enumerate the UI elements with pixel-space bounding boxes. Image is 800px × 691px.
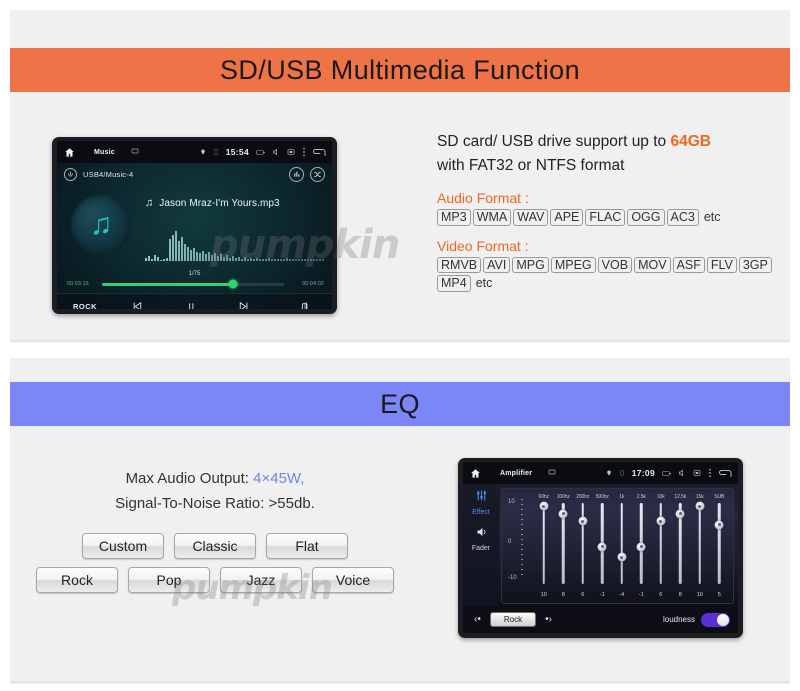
spectrum-bar [166, 258, 168, 261]
spectrum-bar [259, 259, 261, 261]
spectrum-bar [148, 256, 150, 261]
spectrum-bar [214, 253, 216, 261]
equalizer-band-value: -4 [619, 592, 624, 598]
equalizer-band-slider[interactable] [573, 501, 593, 592]
previous-track-icon[interactable] [131, 300, 144, 309]
equalizer-band[interactable]: 60hz10 [534, 493, 554, 599]
duration-time: 00:04:02 [302, 281, 324, 287]
music-note-small-icon: ♫ [145, 197, 153, 209]
home-icon[interactable] [469, 467, 482, 480]
equalizer-band[interactable]: 2.5k-1 [632, 493, 652, 599]
amplifier-side-tabs: Effect Fader [463, 484, 499, 606]
spectrum-bar [232, 256, 234, 261]
eq-preset-button[interactable]: Rock [36, 567, 118, 593]
equalizer-band-frequency: 15k [696, 494, 704, 500]
page-root: SD/USB Multimedia Function Music [0, 0, 800, 691]
back-icon[interactable] [313, 148, 326, 157]
equalizer-band[interactable]: 15k10 [690, 493, 710, 599]
equalizer-band-knob[interactable] [598, 542, 607, 551]
spectrum-bar [184, 244, 186, 261]
format-chip: MP3 [437, 209, 471, 226]
format-chip: RMVB [437, 257, 481, 274]
music-note-icon: ♫ [90, 210, 113, 240]
spectrum-bar [271, 259, 273, 261]
support-line: SD card/ USB drive support up to 64GB [437, 130, 787, 154]
sliders-icon[interactable] [475, 489, 488, 507]
spectrum-bar [274, 259, 276, 261]
next-preset-icon[interactable]: •› [542, 614, 555, 625]
amplifier-screen: Amplifier 17:09 [463, 462, 738, 633]
loudness-label: loudness [663, 615, 695, 624]
spectrum-bar [175, 231, 177, 261]
format-chip: 3GP [739, 257, 772, 274]
location-icon [200, 148, 206, 156]
spectrum-bar [265, 259, 267, 261]
equalizer-band-track [543, 503, 546, 584]
spectrum-bar [253, 259, 255, 261]
spectrum-bar [304, 259, 306, 261]
axis-dotted-guide [521, 499, 523, 579]
format-chip: OGG [627, 209, 664, 226]
section-sdusb-title: SD/USB Multimedia Function [220, 55, 580, 86]
playlist-icon[interactable] [297, 301, 309, 310]
equalizer-band-track [699, 503, 702, 584]
amplifier-clock: 17:09 [632, 468, 655, 478]
sim-icon [213, 148, 219, 156]
support-capacity: 64GB [670, 133, 711, 150]
spectrum-bar [301, 259, 303, 261]
equalizer-band-knob[interactable] [676, 509, 685, 518]
current-preset-button[interactable]: Rock [490, 612, 536, 627]
amplifier-status-bar: Amplifier 17:09 [463, 462, 738, 484]
format-chip: AC3 [667, 209, 699, 226]
amplifier-bottom-bar: ‹• Rock •› loudness [463, 606, 738, 633]
format-chip: VOB [598, 257, 632, 274]
sd-card-icon [131, 147, 139, 157]
spectrum-bar [199, 253, 201, 261]
spectrum-bar [196, 252, 198, 261]
loudness-toggle-knob [717, 614, 729, 626]
media-player-device: Music 15:54 [52, 137, 337, 314]
media-player-status-bar: Music 15:54 [57, 141, 332, 163]
equalizer-panel: 10 0 -10 60hz10100hz8200hz6500hz-11k-42.… [501, 488, 734, 604]
equalizer-band-value: 8 [562, 592, 565, 598]
spectrum-bar [310, 259, 312, 261]
spectrum-bar [289, 259, 291, 261]
snr-line: Signal-To-Noise Ratio: >55db. [70, 491, 360, 516]
equalizer-band[interactable]: SUB5 [710, 493, 730, 599]
format-chip: APE [550, 209, 583, 226]
eq-info-column: Max Audio Output: 4×45W, Signal-To-Noise… [70, 466, 360, 593]
filesystem-line: with FAT32 or NTFS format [437, 154, 787, 178]
spectrum-bar [277, 259, 279, 261]
eq-preset-row-1: CustomClassicFlat [82, 533, 348, 559]
spectrum-bar [211, 255, 213, 261]
equalizer-band[interactable]: 500hz-1 [593, 493, 613, 599]
next-track-icon[interactable] [237, 300, 250, 309]
spectrum-bar [235, 258, 237, 261]
spectrum-bar [217, 256, 219, 261]
axis-label-max: 10 [508, 499, 515, 505]
battery-icon [662, 470, 671, 477]
spectrum-bar [319, 259, 321, 261]
spectrum-bar [193, 248, 195, 261]
equalizer-band-knob[interactable] [715, 520, 724, 529]
format-chip: WMA [473, 209, 512, 226]
equalizer-band-frequency: 500hz [596, 494, 609, 500]
equalizer-band-frequency: 10k [657, 494, 665, 500]
equalizer-band-value: -1 [600, 592, 605, 598]
spectrum-bar [172, 235, 174, 261]
amplifier-app-name: Amplifier [500, 470, 532, 477]
media-player-progress-area: 1/75 00:03:16 00:04:02 [57, 273, 332, 293]
amplifier-main: Effect Fader 10 0 -10 60hz10100hz8200hz6… [463, 484, 738, 606]
max-audio-output-line: Max Audio Output: 4×45W, [70, 466, 360, 491]
location-icon [606, 469, 612, 477]
eq-preset-button[interactable]: Voice [312, 567, 394, 593]
format-chip: MPG [512, 257, 548, 274]
spectrum-bar [307, 259, 309, 261]
spectrum-bar [262, 259, 264, 261]
back-icon[interactable] [719, 469, 732, 478]
pause-icon[interactable] [186, 300, 197, 309]
section-eq-header: EQ [10, 382, 790, 426]
speaker-icon[interactable] [475, 525, 488, 543]
equalizer-band-value: 10 [541, 592, 547, 598]
spectrum-bar [292, 259, 294, 261]
equalizer-band-knob[interactable] [578, 517, 587, 526]
equalizer-band-track [660, 503, 663, 584]
equalizer-band-track [582, 503, 585, 584]
audio-format-list: MP3WMAWAVAPEFLACOGGAC3etc [437, 209, 787, 226]
equalizer-band-knob[interactable] [617, 553, 626, 562]
equalizer-band-slider[interactable] [612, 501, 632, 592]
current-eq-preset[interactable]: ROCK [73, 302, 97, 309]
spectrum-bar [286, 258, 288, 261]
eq-preset-button[interactable]: Flat [266, 533, 348, 559]
video-format-label: Video Format : [437, 238, 787, 254]
eq-preset-button[interactable]: Pop [128, 567, 210, 593]
eq-preset-button[interactable]: Classic [174, 533, 256, 559]
amplifier-device: Amplifier 17:09 [458, 458, 743, 638]
eq-preset-button[interactable]: Jazz [220, 567, 302, 593]
spectrum-bar [226, 255, 228, 261]
media-player-app-name: Music [94, 149, 115, 156]
equalizer-band-knob[interactable] [656, 517, 665, 526]
equalizer-band-slider[interactable] [651, 501, 671, 592]
progress-bar[interactable] [102, 283, 284, 286]
spectrum-bar [244, 257, 246, 261]
media-player-source-path: USB4/Music-4 [83, 170, 133, 179]
format-etc: etc [476, 277, 493, 290]
equalizer-band-slider[interactable] [534, 501, 554, 592]
spectrum-bar [178, 241, 180, 261]
audio-spectrum-visualizer [145, 219, 330, 261]
equalizer-band-slider[interactable] [554, 501, 574, 592]
sd-card-icon [548, 468, 556, 478]
equalizer-band-knob[interactable] [695, 502, 704, 511]
equalizer-band-slider[interactable] [632, 501, 652, 592]
spectrum-bar [223, 257, 225, 261]
equalizer-band-slider[interactable] [690, 501, 710, 592]
eq-preset-buttons: CustomClassicFlat RockPopJazzVoice [70, 533, 360, 593]
equalizer-band[interactable]: 1k-4 [612, 493, 632, 599]
equalizer-band-value: 8 [679, 592, 682, 598]
spectrum-bar [241, 259, 243, 261]
support-line-prefix: SD card/ USB drive support up to [437, 133, 670, 150]
equalizer-band-value: 5 [718, 592, 721, 598]
spectrum-bar [256, 258, 258, 261]
spectrum-bar [229, 258, 231, 261]
equalizer-band-slider[interactable] [671, 501, 691, 592]
equalizer-band-knob[interactable] [637, 542, 646, 551]
more-icon[interactable] [708, 468, 712, 478]
spectrum-bar [157, 257, 159, 261]
media-player-controls: ROCK [57, 293, 332, 309]
section-divider-2 [10, 681, 790, 684]
equalizer-band-knob[interactable] [539, 502, 548, 511]
more-icon[interactable] [302, 147, 306, 157]
spectrum-bar [283, 259, 285, 261]
spectrum-bar [160, 260, 162, 261]
audio-format-label: Audio Format : [437, 190, 787, 206]
screen-icon[interactable] [693, 469, 701, 477]
spectrum-bar [295, 259, 297, 261]
previous-preset-icon[interactable]: ‹• [471, 614, 484, 625]
spectrum-bar [145, 258, 147, 261]
format-etc: etc [704, 211, 721, 224]
spectrum-bar [163, 259, 165, 261]
equalizer-band-frequency: 12.5k [674, 494, 686, 500]
amplifier-tab-fader[interactable]: Fader [472, 545, 490, 552]
equalizer-band-frequency: 100hz [557, 494, 570, 500]
spectrum-bar [190, 250, 192, 261]
spectrum-bar [169, 239, 171, 261]
equalizer-band-slider[interactable] [710, 501, 730, 592]
section-eq-title: EQ [380, 389, 420, 420]
loudness-toggle[interactable] [701, 613, 730, 627]
volume-icon[interactable] [678, 469, 686, 477]
equalizer-band[interactable]: 200hz6 [573, 493, 593, 599]
media-player-body: ♫ ♫ Jason Mraz-I'm Yours.mp3 [57, 185, 332, 273]
format-chip: MOV [634, 257, 670, 274]
progress-bar-fill [102, 283, 233, 286]
axis-label-mid: 0 [508, 539, 511, 545]
video-format-list: RMVBAVIMPGMPEGVOBMOVASFFLV3GPMP4etc [437, 257, 787, 292]
album-art: ♫ [71, 195, 131, 255]
media-player-clock: 15:54 [226, 147, 249, 157]
format-chip: FLAC [585, 209, 625, 226]
shuffle-icon[interactable] [310, 167, 325, 182]
spectrum-bar [280, 259, 282, 261]
spectrum-bar [250, 258, 252, 261]
equalizer-icon[interactable] [289, 167, 304, 182]
spectrum-bar [238, 257, 240, 261]
spectrum-bar [322, 259, 324, 261]
home-icon[interactable] [63, 146, 76, 159]
media-player-screen: Music 15:54 [57, 141, 332, 309]
spectrum-bar [316, 259, 318, 261]
battery-icon [256, 149, 265, 156]
screen-icon[interactable] [287, 148, 295, 156]
spectrum-bar [313, 259, 315, 261]
spectrum-bar [154, 255, 156, 261]
eq-preset-row-2: RockPopJazzVoice [36, 567, 394, 593]
equalizer-band-frequency: 1k [619, 494, 624, 500]
format-chip: FLV [707, 257, 737, 274]
equalizer-band-frequency: SUB [714, 494, 724, 500]
spectrum-bar [151, 259, 153, 261]
format-chip: ASF [673, 257, 705, 274]
max-audio-output-label: Max Audio Output: [126, 470, 254, 487]
track-index: 1/75 [57, 271, 332, 277]
sdusb-info-text: SD card/ USB drive support up to 64GB wi… [437, 130, 787, 292]
section-sdusb-header: SD/USB Multimedia Function [10, 48, 790, 92]
spectrum-bar [181, 237, 183, 261]
spectrum-bar [205, 254, 207, 261]
track-title: Jason Mraz-I'm Yours.mp3 [159, 198, 279, 209]
spectrum-bar [298, 259, 300, 261]
equalizer-band-value: 6 [659, 592, 662, 598]
equalizer-band-value: 10 [697, 592, 703, 598]
eq-toggle-icon[interactable] [64, 168, 77, 181]
equalizer-band-value: -1 [639, 592, 644, 598]
spectrum-bar [187, 247, 189, 261]
equalizer-band-frequency: 60hz [539, 494, 549, 500]
format-chip: AVI [483, 257, 510, 274]
now-playing-row: ♫ Jason Mraz-I'm Yours.mp3 [145, 197, 280, 209]
format-chip: MPEG [551, 257, 596, 274]
equalizer-band-frequency: 2.5k [637, 494, 646, 500]
progress-bar-handle[interactable] [229, 280, 238, 289]
spectrum-bar [202, 251, 204, 261]
axis-label-min: -10 [508, 575, 517, 581]
eq-preset-button[interactable]: Custom [82, 533, 164, 559]
format-chip: MP4 [437, 275, 471, 292]
equalizer-bands: 60hz10100hz8200hz6500hz-11k-42.5k-110k61… [534, 493, 729, 599]
equalizer-band-slider[interactable] [593, 501, 613, 592]
spectrum-bar [220, 254, 222, 261]
spectrum-bar [208, 252, 210, 261]
spectrum-bar [247, 259, 249, 261]
equalizer-band-track [621, 503, 624, 584]
spectrum-bar [268, 258, 270, 261]
equalizer-band[interactable]: 12.5k8 [671, 493, 691, 599]
sim-icon [619, 469, 625, 477]
amplifier-tab-effect[interactable]: Effect [472, 509, 490, 516]
equalizer-band-track [718, 503, 721, 584]
equalizer-band-value: 6 [581, 592, 584, 598]
media-player-source-row: USB4/Music-4 [57, 163, 332, 185]
equalizer-band[interactable]: 10k6 [651, 493, 671, 599]
max-audio-output-value: 4×45W, [253, 470, 304, 487]
volume-icon[interactable] [272, 148, 280, 156]
equalizer-band[interactable]: 100hz8 [554, 493, 574, 599]
section-divider-1 [10, 340, 790, 343]
equalizer-band-knob[interactable] [559, 509, 568, 518]
format-chip: WAV [513, 209, 548, 226]
equalizer-band-frequency: 200hz [576, 494, 589, 500]
elapsed-time: 00:03:16 [67, 281, 89, 287]
